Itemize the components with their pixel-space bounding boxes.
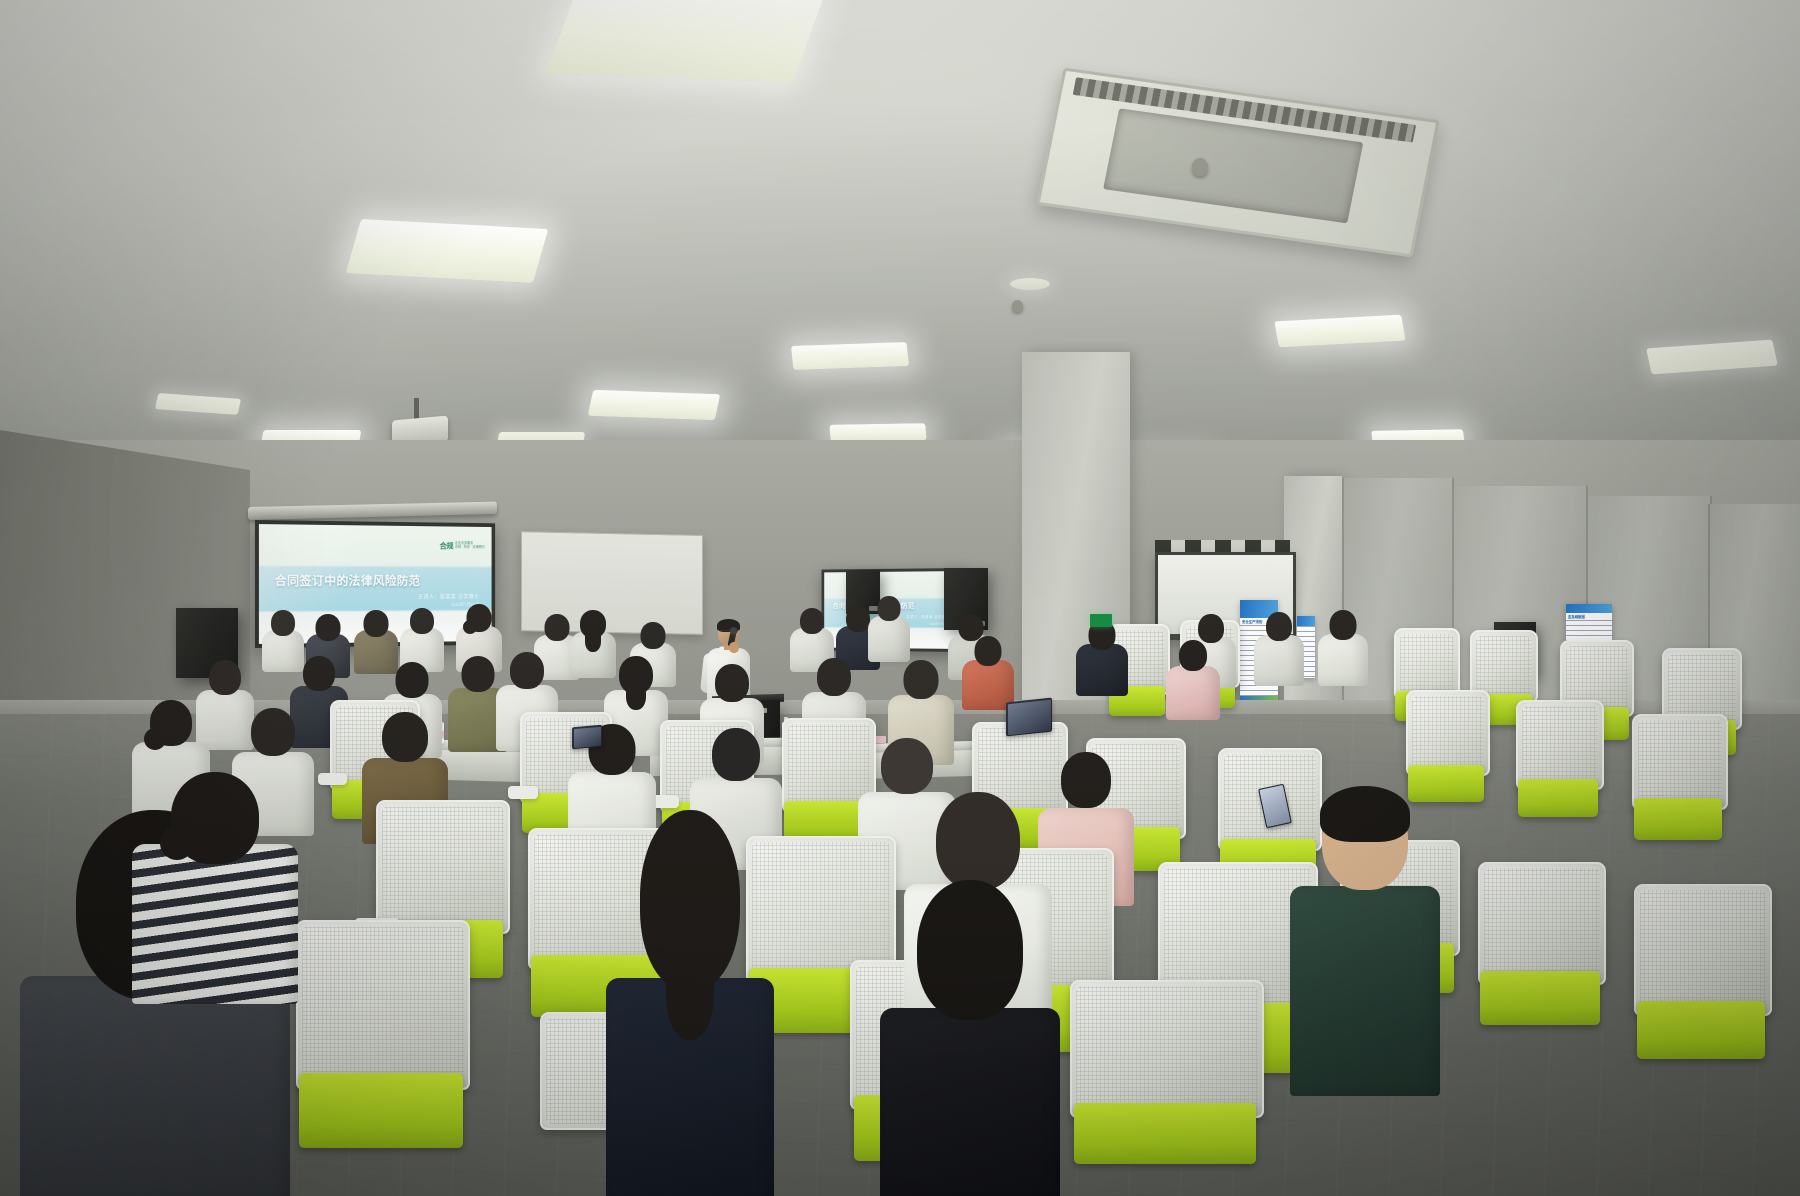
person-head <box>1266 612 1292 641</box>
ceiling-light-panel <box>1010 278 1050 290</box>
person-head <box>1061 752 1111 808</box>
chair[interactable] <box>296 920 466 1188</box>
slide-title: 合同签订中的法律风险防范 <box>275 571 492 590</box>
chair-mesh <box>1476 636 1532 697</box>
audience-member <box>868 596 910 660</box>
chair-seat <box>1637 1001 1766 1059</box>
chair-mesh <box>1076 986 1258 1112</box>
ceiling-light-panel <box>588 390 721 420</box>
chair-back <box>1634 884 1772 1016</box>
person-head <box>800 608 824 634</box>
chair-mesh <box>302 926 464 1084</box>
person-head <box>545 614 570 641</box>
person-head <box>712 728 760 781</box>
tablet-device[interactable] <box>1006 698 1052 737</box>
person-head <box>917 880 1023 1020</box>
audience-member <box>400 608 444 670</box>
ceiling-light-panel <box>546 0 824 82</box>
audience-member <box>1076 620 1128 694</box>
person-head <box>271 610 295 636</box>
ponytail <box>585 630 601 652</box>
person-head <box>364 610 389 637</box>
ceiling-shading <box>0 0 1800 470</box>
person-head <box>1198 614 1224 643</box>
slide-date: 2024年7月26日 <box>275 603 480 610</box>
person-hair <box>1320 786 1410 842</box>
audience-member <box>1254 612 1304 684</box>
chair-mesh <box>1400 634 1454 694</box>
chair[interactable] <box>1478 862 1602 1054</box>
person-head <box>878 596 901 621</box>
person-head <box>462 656 495 692</box>
chair-back <box>1632 714 1728 810</box>
audience-member <box>880 880 1060 1196</box>
logo-sub-line-2: 合规 · 风控 · 法律顾问 <box>455 545 485 549</box>
logo-sub-text: 企业法务服务 合规 · 风控 · 法律顾问 <box>455 542 485 549</box>
person-head <box>846 606 870 632</box>
slide-header-area: 合规 企业法务服务 合规 · 风控 · 法律顾问 <box>259 524 492 568</box>
person-head <box>641 622 666 649</box>
chair[interactable] <box>1070 980 1260 1196</box>
person-head <box>975 636 1002 666</box>
person-torso <box>1076 644 1128 696</box>
chair-back <box>1406 690 1490 776</box>
chair-back <box>296 920 470 1090</box>
ceiling <box>0 0 1800 470</box>
ponytail <box>626 682 646 710</box>
chair-back <box>1478 862 1606 985</box>
person-head <box>410 608 434 634</box>
chair-seat <box>1518 779 1599 818</box>
chair-mesh <box>382 806 504 928</box>
person-head <box>382 712 428 762</box>
person-head <box>881 738 933 794</box>
presenter-hand <box>729 642 739 653</box>
person-torso <box>132 844 298 1004</box>
slide-logo: 合规 企业法务服务 合规 · 风控 · 法律顾问 <box>440 540 485 551</box>
chair-back <box>376 800 510 934</box>
person-torso <box>1166 666 1220 720</box>
chair-mesh <box>1640 890 1766 1010</box>
chair-mesh <box>1484 868 1600 979</box>
ceiling-light-panel <box>346 219 549 283</box>
hair-bun <box>463 620 477 634</box>
chair-mesh <box>1638 720 1722 804</box>
slide-presenter: 主讲人：张某某 法学博士 <box>275 593 480 601</box>
tablet-screen <box>574 726 601 747</box>
audience-member <box>1166 640 1220 718</box>
chair-seat <box>1480 971 1599 1025</box>
person-head <box>303 656 335 691</box>
person-head <box>904 660 939 699</box>
poster-header <box>1566 604 1612 613</box>
hair-bun <box>144 728 166 750</box>
exit-sign-icon <box>1090 614 1112 627</box>
person-head <box>209 660 241 695</box>
audience-member <box>962 636 1014 708</box>
chair[interactable] <box>1634 884 1768 1090</box>
chair-back <box>1070 980 1264 1118</box>
person-torso <box>1290 886 1440 1096</box>
chair-back <box>1516 700 1604 790</box>
audience-member <box>606 810 774 1196</box>
chair-arm <box>508 786 538 799</box>
chair-mesh <box>1412 696 1484 770</box>
logo-mark-text: 合规 <box>440 540 454 551</box>
tablet-device[interactable] <box>572 725 602 750</box>
chair[interactable] <box>1632 714 1724 862</box>
person-torso <box>880 1008 1060 1196</box>
ponytail <box>666 940 714 1040</box>
person-head <box>1179 640 1207 671</box>
person-torso <box>20 976 290 1196</box>
person-head <box>936 792 1020 890</box>
chair-seat <box>1634 798 1722 839</box>
chair-mesh <box>1522 706 1598 784</box>
chair-arm <box>318 773 347 786</box>
ceiling-light-panel <box>791 342 909 370</box>
audience-member <box>1290 790 1440 1090</box>
tablet-screen <box>1008 699 1051 735</box>
poster-title: 应急疏散图 <box>1566 613 1612 620</box>
person-torso <box>868 616 910 662</box>
person-head <box>316 614 341 641</box>
person-head <box>396 662 429 698</box>
person-head <box>251 708 295 756</box>
fire-sprinkler-icon <box>1192 158 1208 176</box>
person-head <box>1330 610 1357 640</box>
chair-seat <box>299 1073 462 1148</box>
audience-member <box>1318 610 1368 684</box>
audience-member <box>132 772 298 998</box>
meeting-room-photo: 合规 企业法务服务 合规 · 风控 · 法律顾问 合同签订中的法律风险防范 主讲… <box>0 0 1800 1196</box>
person-torso <box>1318 634 1368 686</box>
person-head <box>510 652 544 689</box>
fire-sprinkler-icon <box>1012 300 1023 312</box>
chair[interactable] <box>1516 700 1600 838</box>
hair-bun <box>160 826 194 860</box>
chair-seat <box>1074 1103 1256 1163</box>
person-torso <box>1254 635 1304 686</box>
person-head <box>817 658 851 696</box>
person-head <box>715 664 749 702</box>
